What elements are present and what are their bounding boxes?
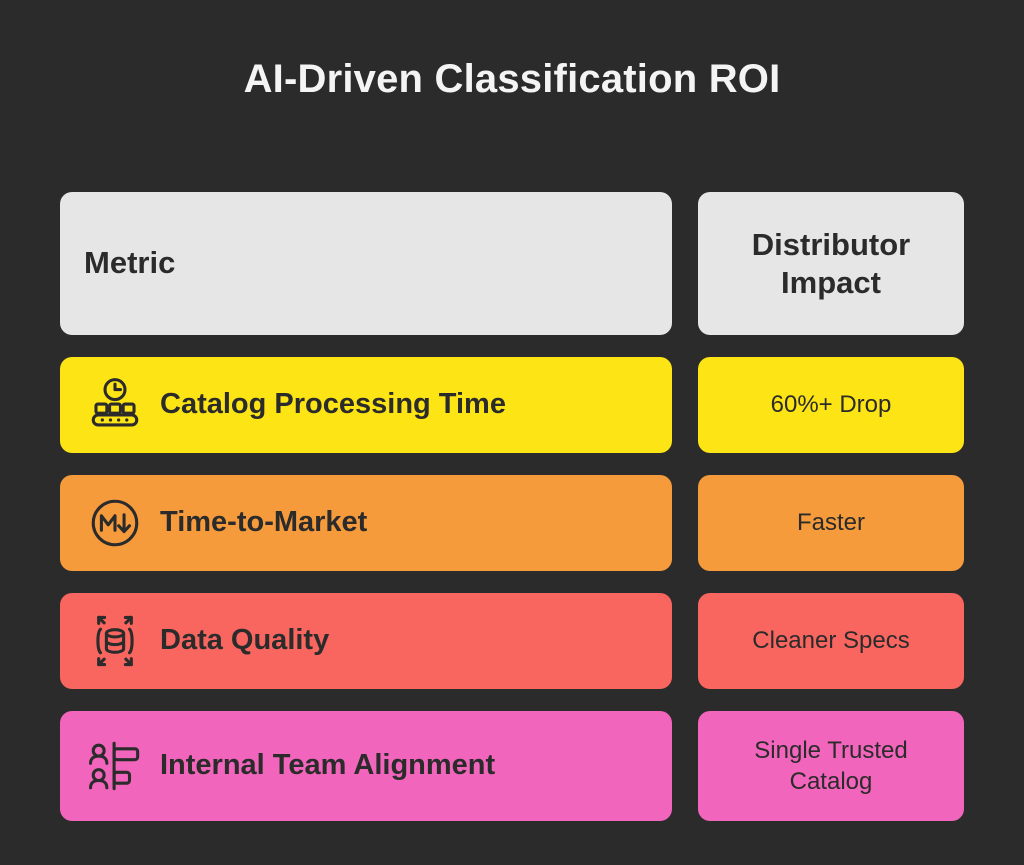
table-header-row: Metric DistributorImpact <box>60 192 964 335</box>
impact-label: 60%+ Drop <box>771 389 892 420</box>
infographic-root: AI-Driven Classification ROI Metric Dist… <box>0 0 1024 865</box>
impact-line-2: Catalog <box>790 768 873 795</box>
metric-label: Catalog Processing Time <box>160 389 506 421</box>
table-row: Time-to-Market Faster <box>60 475 964 571</box>
impact-label: Single TrustedCatalog <box>754 735 907 797</box>
impact-label: Faster <box>797 507 865 538</box>
metric-cell-data-quality: Data Quality <box>60 593 672 689</box>
header-impact-line-2: Impact <box>781 265 881 300</box>
database-expand-icon <box>84 610 146 672</box>
header-metric-label: Metric <box>84 246 175 280</box>
comparison-table: Metric DistributorImpact <box>60 192 964 821</box>
metric-cell-time-to-market: Time-to-Market <box>60 475 672 571</box>
header-cell-impact: DistributorImpact <box>698 192 964 335</box>
table-row: Data Quality Cleaner Specs <box>60 593 964 689</box>
conveyor-belt-clock-icon <box>84 374 146 436</box>
impact-cell-internal-team-alignment: Single TrustedCatalog <box>698 711 964 821</box>
page-title: AI-Driven Classification ROI <box>0 56 1024 102</box>
impact-line-1: Single Trusted <box>754 737 907 764</box>
impact-cell-catalog-processing-time: 60%+ Drop <box>698 357 964 453</box>
metric-label: Internal Team Alignment <box>160 750 495 782</box>
header-cell-metric: Metric <box>60 192 672 335</box>
metric-cell-internal-team-alignment: Internal Team Alignment <box>60 711 672 821</box>
impact-label: Cleaner Specs <box>752 625 909 656</box>
header-impact-line-1: Distributor <box>752 227 910 262</box>
table-row: Internal Team Alignment Single TrustedCa… <box>60 711 964 821</box>
impact-cell-time-to-market: Faster <box>698 475 964 571</box>
metric-label: Time-to-Market <box>160 507 367 539</box>
header-impact-label: DistributorImpact <box>752 226 910 302</box>
table-row: Catalog Processing Time 60%+ Drop <box>60 357 964 453</box>
metric-label: Data Quality <box>160 625 329 657</box>
market-down-arrow-icon <box>84 492 146 554</box>
team-alignment-icon <box>84 735 146 797</box>
impact-cell-data-quality: Cleaner Specs <box>698 593 964 689</box>
metric-cell-catalog-processing-time: Catalog Processing Time <box>60 357 672 453</box>
